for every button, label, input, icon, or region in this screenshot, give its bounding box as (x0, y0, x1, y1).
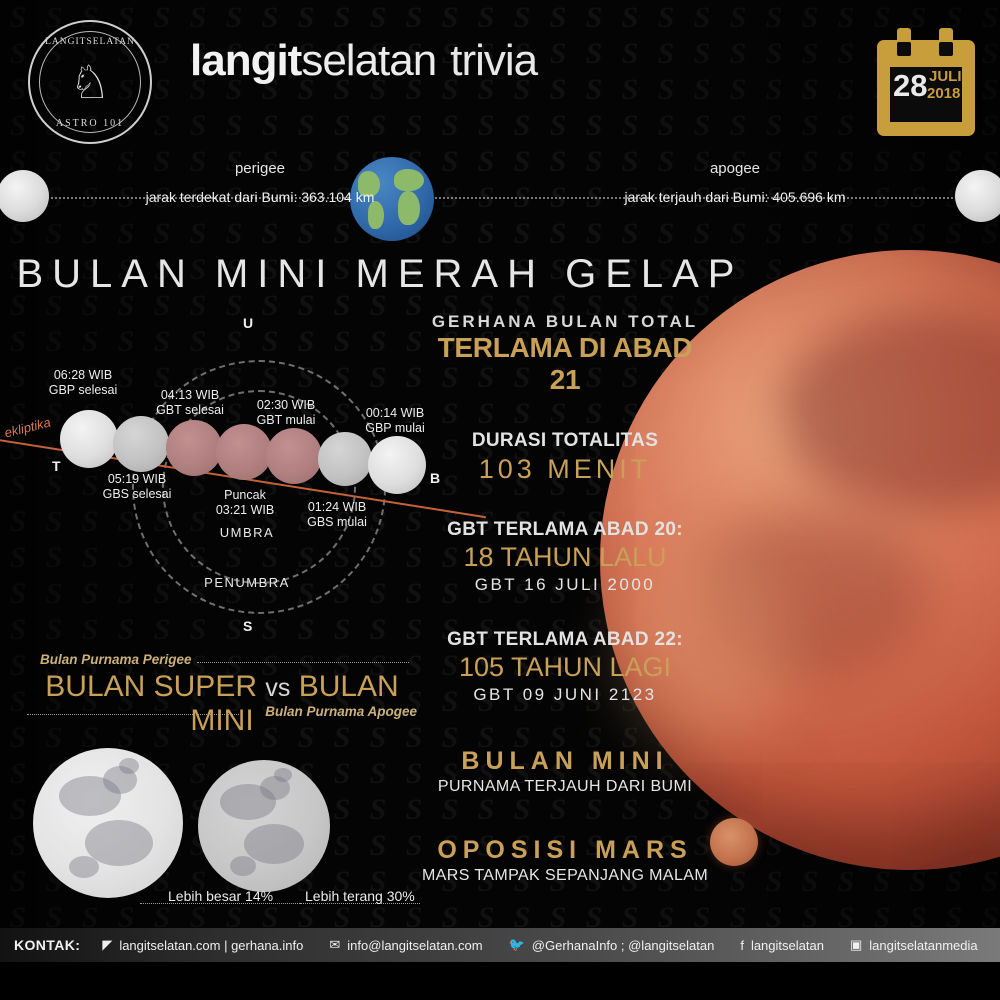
century22-caption: GBT TERLAMA ABAD 22: (420, 629, 710, 651)
calendar-month: JULI (929, 69, 962, 84)
event-name-3: GBT selesai (135, 403, 245, 418)
event-time-1: 06:28 WIB (28, 368, 138, 383)
event-label-3: 04:13 WIB GBT selesai (135, 388, 245, 418)
event-name-1: GBP selesai (28, 383, 138, 398)
compare-bright-note: Lebih terang 30% (305, 888, 415, 904)
century20-caption: GBT TERLAMA ABAD 20: (420, 519, 710, 541)
calendar-hole-right (939, 42, 953, 56)
event-time-2: 05:19 WIB (82, 472, 192, 487)
brand-bold: langit (190, 36, 301, 85)
contact-label: KONTAK: (0, 937, 102, 953)
langitselatan-logo: LANGITSELATAN ♘ ASTRO 101 (28, 20, 152, 144)
mail-icon: ✉ (329, 937, 340, 953)
perigee-detail: jarak terdekat dari Bumi: 363.104 km (60, 189, 460, 205)
minimoon-graphic (198, 760, 330, 892)
compare-title-vs: vs (265, 674, 290, 702)
diagram-moon-3 (166, 420, 222, 476)
calendar-body: 28 JULI 2018 (877, 40, 975, 136)
perigee-block: perigee jarak terdekat dari Bumi: 363.10… (60, 160, 460, 205)
compare-top-line (197, 662, 409, 663)
contact-website[interactable]: ◤ langitselatan.com | gerhana.info (102, 937, 303, 953)
instagram-icon: ▣ (850, 937, 862, 953)
blood-moon-mare-1 (780, 310, 1000, 510)
eclipse-diagram: ekliptika U S T B 06:28 WIB GBP selesai … (0, 310, 470, 650)
contact-facebook[interactable]: f langitselatan (740, 938, 824, 953)
duration-block: DURASI TOTALITAS 103 MENIT (420, 430, 710, 485)
penumbra-label: PENUMBRA (192, 575, 302, 590)
direction-mark-south: S (243, 618, 252, 634)
contact-instagram-text: langitselatanmedia (869, 938, 977, 953)
century20-value: 18 TAHUN LALU (420, 542, 710, 573)
compare-bottom-label: Bulan Purnama Apogee (265, 704, 417, 719)
mars-planet-graphic (710, 818, 758, 866)
mars-block: OPOSISI MARS MARS TAMPAK SEPANJANG MALAM (420, 836, 710, 885)
compare-size-note: Lebih besar 14% (168, 888, 273, 904)
mars-title: OPOSISI MARS (420, 836, 710, 865)
century22-block: GBT TERLAMA ABAD 22: 105 TAHUN LAGI GBT … (420, 629, 710, 705)
contact-email-text: info@langitselatan.com (347, 938, 482, 953)
event-label-4: 02:30 WIB GBT mulai (231, 398, 341, 428)
century22-date: GBT 09 JUNI 2123 (420, 685, 710, 705)
compare-title-left: BULAN SUPER (45, 670, 257, 703)
event-label-2: 05:19 WIB GBS selesai (82, 472, 192, 502)
umbra-label: UMBRA (192, 525, 302, 540)
brand-title: langitselatantrivia (190, 36, 537, 86)
event-name-2: GBS selesai (82, 487, 192, 502)
diagram-moon-1 (60, 410, 118, 468)
diagram-moon-5 (266, 428, 322, 484)
event-label-1: 06:28 WIB GBP selesai (28, 368, 138, 398)
perigee-title: perigee (60, 160, 460, 177)
contact-website-text: langitselatan.com | gerhana.info (119, 938, 303, 953)
contact-footer: KONTAK: ◤ langitselatan.com | gerhana.in… (0, 928, 1000, 962)
logo-bottom-text: ASTRO 101 (30, 118, 150, 129)
apogee-detail: jarak terjauh dari Bumi: 405.696 km (525, 189, 945, 205)
event-name-4: GBT mulai (231, 413, 341, 428)
minimoon-block: BULAN MINI PURNAMA TERJAUH DARI BUMI (420, 747, 710, 796)
compare-bottom-line (27, 714, 239, 715)
page-title: BULAN MINI MERAH GELAP (0, 252, 760, 297)
contact-facebook-text: langitselatan (751, 938, 824, 953)
apogee-block: apogee jarak terjauh dari Bumi: 405.696 … (525, 160, 945, 205)
direction-mark-east: T (52, 458, 61, 474)
diagram-moon-2 (113, 416, 169, 472)
calendar-year: 2018 (927, 86, 960, 101)
century20-block: GBT TERLAMA ABAD 20: 18 TAHUN LALU GBT 1… (420, 519, 710, 595)
diagram-moon-6 (318, 432, 372, 486)
supermoon-graphic (33, 748, 183, 898)
century22-value: 105 TAHUN LAGI (420, 652, 710, 683)
contact-twitter[interactable]: 🐦 @GerhanaInfo ; @langitselatan (509, 937, 715, 953)
facebook-icon: f (740, 938, 744, 953)
mars-sub: MARS TAMPAK SEPANJANG MALAM (420, 867, 710, 885)
brand-trivia: trivia (450, 36, 537, 85)
twitter-icon: 🐦 (509, 937, 525, 953)
infographic-root: SSSSSSSSSSSSSSSSSSSSSSSSSSSSSSSSSSSSSSSS… (0, 0, 1000, 1000)
calendar-hole-left (897, 42, 911, 56)
facts-column: GERHANA BULAN TOTAL TERLAMA DI ABAD 21 D… (420, 312, 710, 885)
peak-time: 03:21 WIB (190, 503, 300, 518)
duration-caption: DURASI TOTALITAS (420, 430, 710, 452)
calendar-day: 28 (893, 70, 927, 101)
logo-top-text: LANGITSELATAN (30, 37, 150, 47)
duration-value: 103 MENIT (420, 454, 710, 485)
peak-caption: Puncak (190, 488, 300, 503)
calendar-icon: 28 JULI 2018 (877, 28, 975, 136)
perigee-moon-graphic (0, 170, 49, 222)
minimoon-title: BULAN MINI (420, 747, 710, 776)
apogee-moon-graphic (955, 170, 1000, 222)
contact-twitter-text: @GerhanaInfo ; @langitselatan (532, 938, 715, 953)
footer-shadow (0, 962, 1000, 1000)
direction-mark-north: U (243, 315, 253, 331)
eclipse-gold-head: TERLAMA DI ABAD 21 (420, 332, 710, 396)
brand-light: selatan (301, 36, 436, 85)
apogee-title: apogee (525, 160, 945, 177)
diagram-moon-4 (216, 424, 272, 480)
minimoon-sub: PURNAMA TERJAUH DARI BUMI (420, 778, 710, 796)
horse-rider-icon: ♘ (58, 56, 122, 108)
contact-instagram[interactable]: ▣ langitselatanmedia (850, 937, 978, 953)
event-time-3: 04:13 WIB (135, 388, 245, 403)
rss-icon: ◤ (102, 937, 112, 953)
diagram-moon-7 (368, 436, 426, 494)
event-time-4: 02:30 WIB (231, 398, 341, 413)
century20-date: GBT 16 JULI 2000 (420, 575, 710, 595)
peak-label: Puncak 03:21 WIB (190, 488, 300, 518)
ecliptic-label: ekliptika (3, 415, 52, 441)
compare-top-label: Bulan Purnama Perigee (40, 652, 192, 667)
contact-email[interactable]: ✉ info@langitselatan.com (329, 937, 482, 953)
eclipse-head: GERHANA BULAN TOTAL (420, 312, 710, 332)
